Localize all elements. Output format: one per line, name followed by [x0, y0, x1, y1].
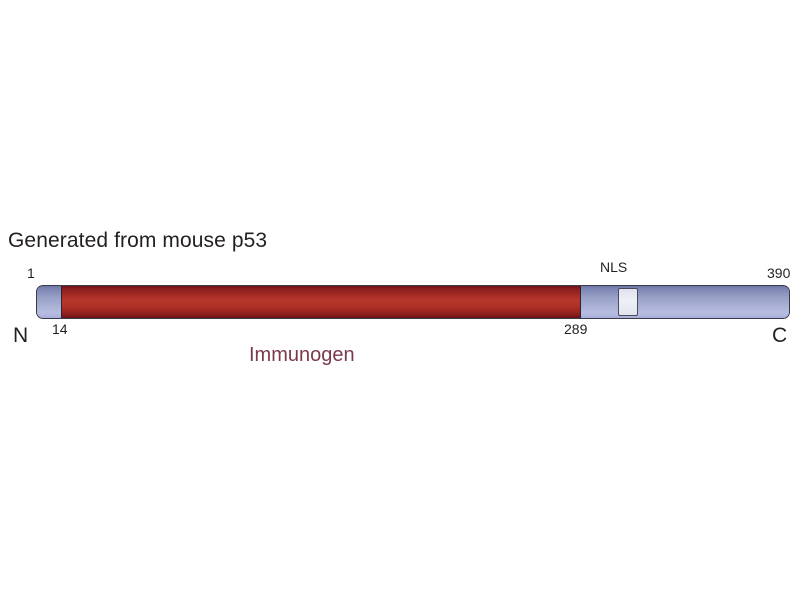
- segment-c-terminal: [581, 286, 790, 318]
- immunogen-region-label: Immunogen: [249, 344, 355, 367]
- residue-label-immunogen-end: 289: [564, 321, 587, 337]
- protein-bar: [36, 285, 790, 319]
- segment-n-terminal: [37, 286, 61, 318]
- protein-domain-diagram: Generated from mouse p53 1 390 NLS 14 28…: [0, 0, 800, 600]
- nls-feature-box: [618, 288, 638, 316]
- n-terminus-label: N: [13, 324, 28, 347]
- residue-label-immunogen-start: 14: [52, 321, 68, 337]
- nls-feature-label: NLS: [600, 259, 627, 275]
- c-terminus-label: C: [772, 324, 787, 347]
- segment-immunogen: [61, 286, 581, 318]
- residue-label-end: 390: [767, 265, 790, 281]
- page-title: Generated from mouse p53: [8, 229, 267, 253]
- residue-label-start: 1: [27, 265, 35, 281]
